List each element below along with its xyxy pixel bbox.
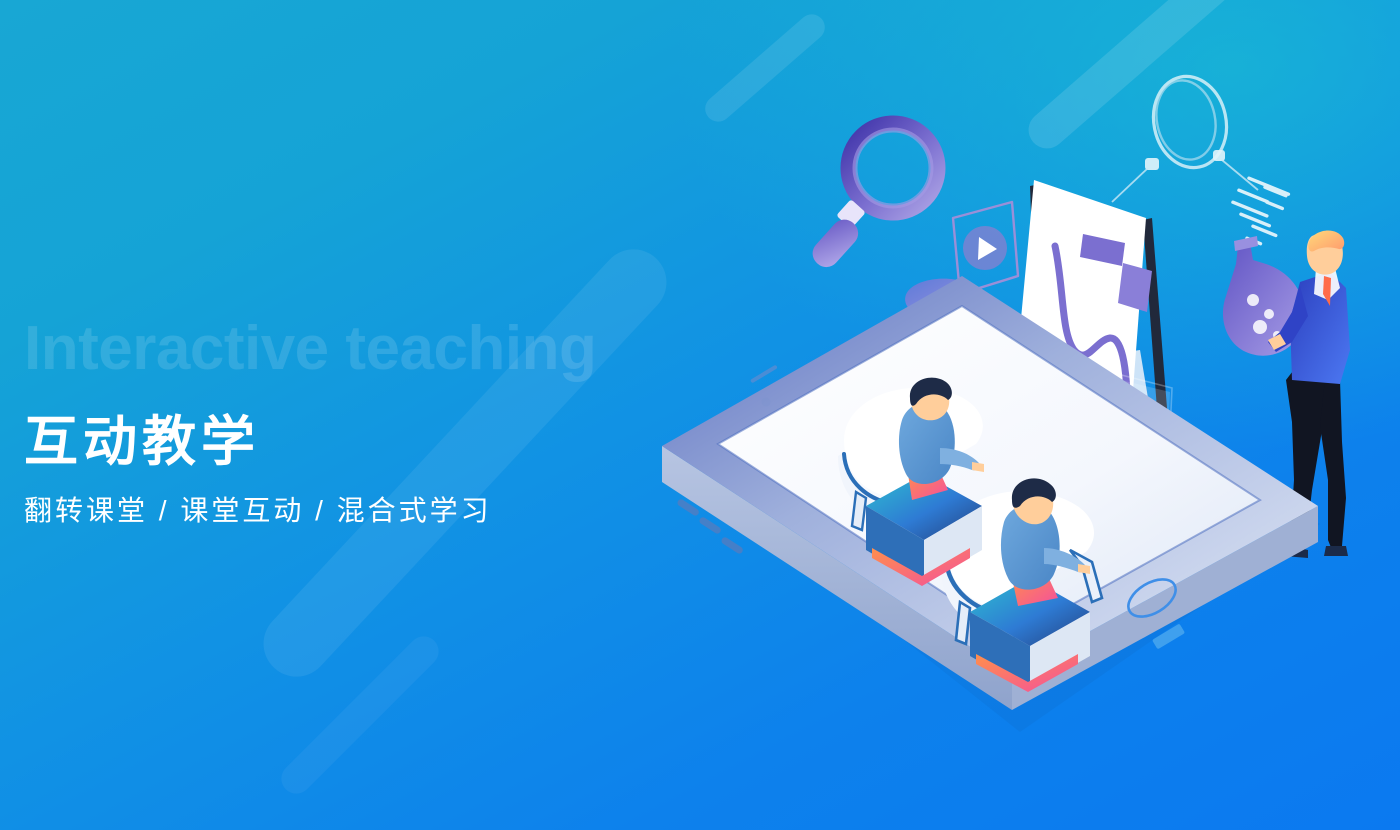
device-camera <box>762 398 771 407</box>
device-volume-down <box>698 516 722 535</box>
background-stripe-large <box>0 0 522 135</box>
tablet-device <box>662 276 1320 732</box>
background-stripe-small-4 <box>275 630 445 800</box>
desk-front-leg-left <box>956 602 970 644</box>
text-lines-right <box>1231 176 1291 246</box>
illustration <box>640 50 1400 830</box>
interactive-teaching-banner: Interactive teaching 互动教学 翻转课堂 / 课堂互动 / … <box>0 0 1400 830</box>
device-power <box>720 536 744 555</box>
teacher-pants-right <box>1320 370 1346 550</box>
device-speaker <box>750 365 778 384</box>
magnifier-icon <box>807 123 938 272</box>
